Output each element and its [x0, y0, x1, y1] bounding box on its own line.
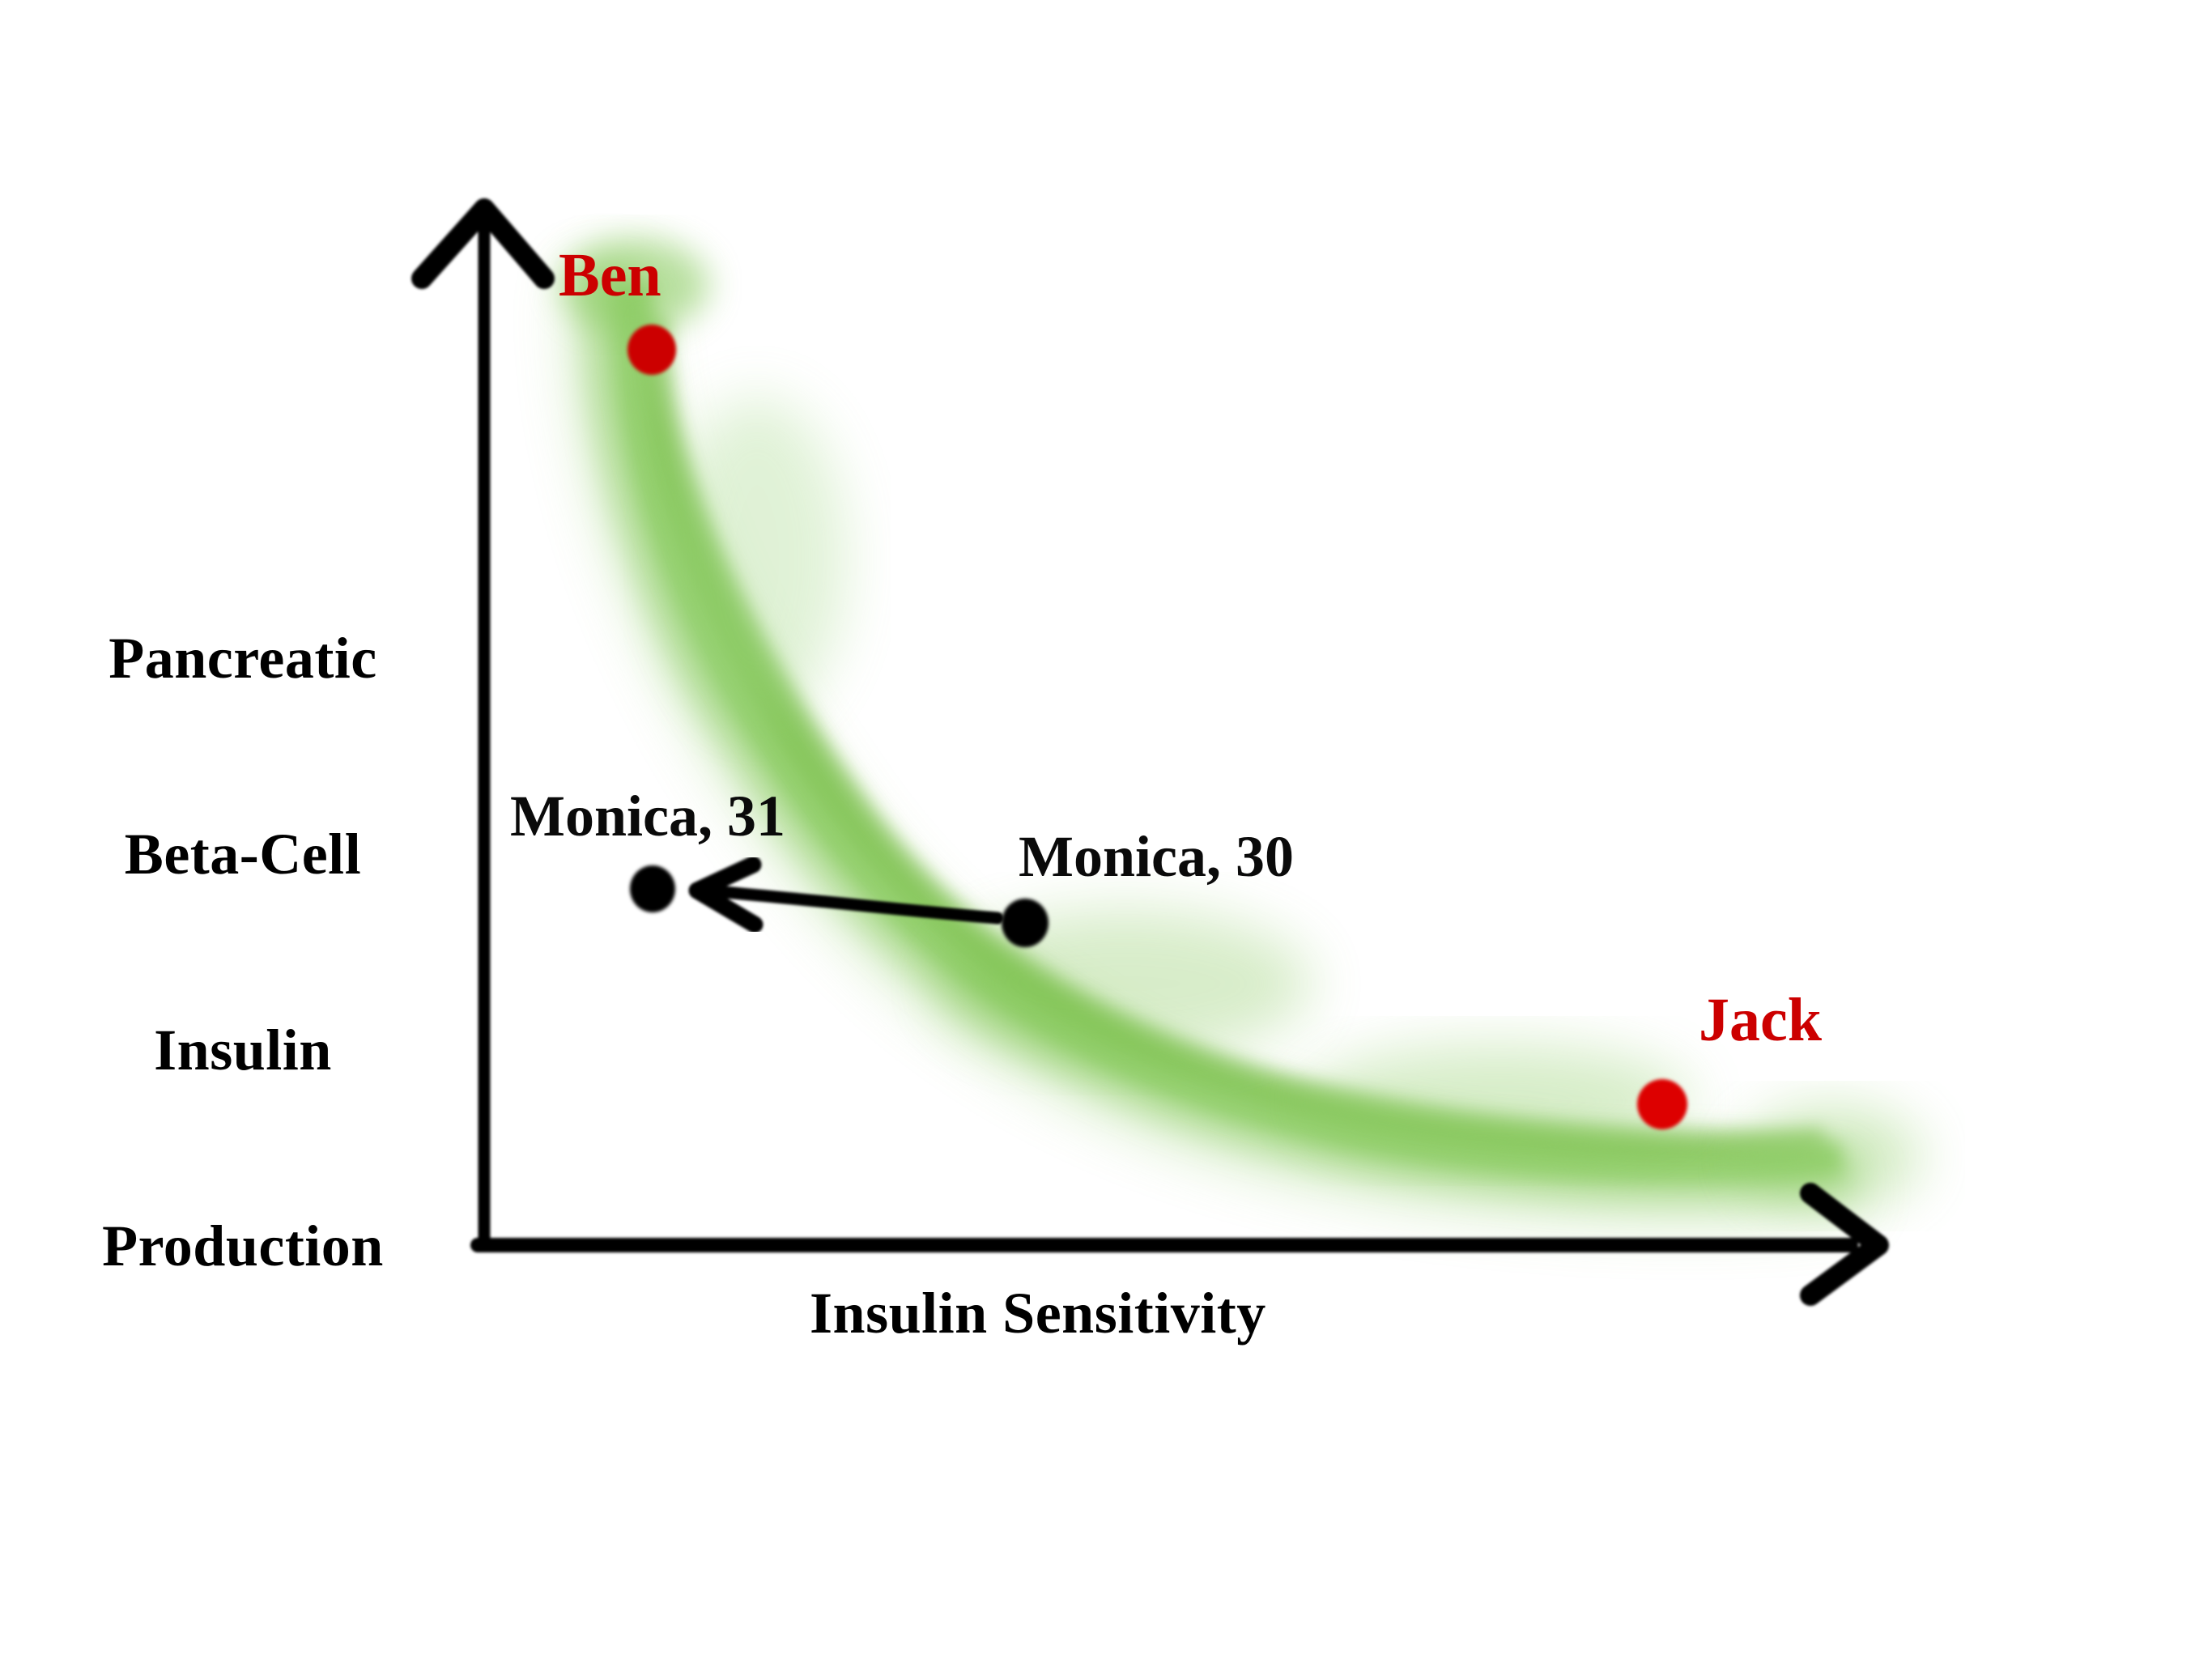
point-label-monica-30: Monica, 30 — [1019, 824, 1294, 890]
y-axis-label-line-1: Pancreatic — [32, 626, 453, 691]
y-axis-label: Pancreatic Beta-Cell Insulin Production — [32, 495, 453, 1409]
point-label-jack: Jack — [1699, 986, 1822, 1055]
point-label-monica-31: Monica, 31 — [510, 784, 785, 849]
x-axis-label: Insulin Sensitivity — [810, 1281, 1266, 1346]
point-monica-31 — [630, 865, 675, 912]
point-label-ben: Ben — [559, 241, 661, 310]
point-monica-30 — [1002, 899, 1049, 947]
y-axis-label-line-2: Beta-Cell — [32, 822, 453, 887]
point-jack — [1637, 1079, 1687, 1129]
point-ben — [627, 325, 676, 375]
y-axis-label-line-3: Insulin — [32, 1018, 453, 1083]
chart-canvas: Pancreatic Beta-Cell Insulin Production … — [0, 0, 2212, 1658]
hyperbola-band — [560, 238, 1921, 1225]
y-axis-label-line-4: Production — [32, 1214, 453, 1279]
